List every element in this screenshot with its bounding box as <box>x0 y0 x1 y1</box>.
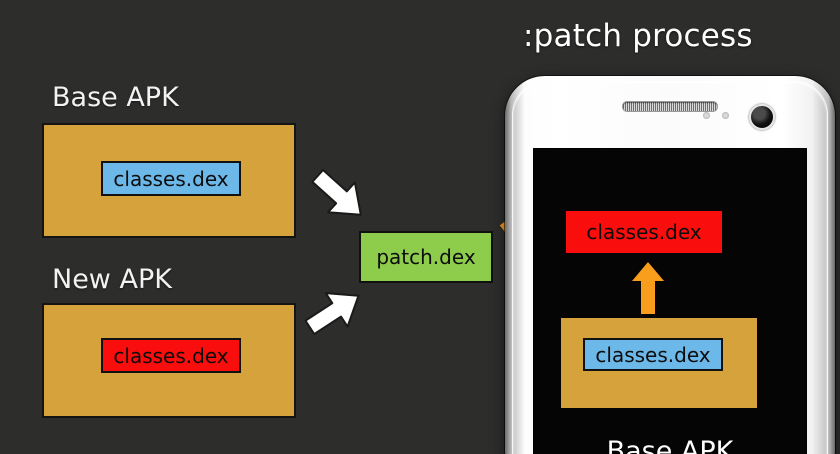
base-apk-to-patch-arrow-icon <box>308 168 372 224</box>
new-apk-to-patch-arrow-icon <box>303 285 367 337</box>
new-apk-box: classes.dex <box>42 303 296 418</box>
front-camera-icon <box>749 104 775 130</box>
device-base-apk-box: classes.dex <box>561 318 757 408</box>
earpiece-speaker-icon <box>622 101 718 112</box>
device-base-apk-label: Base APK <box>533 436 807 454</box>
base-apk-to-patched-dex-arrow-icon <box>631 261 665 315</box>
base-apk-classes-dex-chip: classes.dex <box>101 161 241 196</box>
patch-dex-box: patch.dex <box>359 231 493 283</box>
page-title: :patch process <box>523 18 753 54</box>
device-base-apk-classes-dex-chip: classes.dex <box>583 338 723 371</box>
light-sensor-icon <box>722 112 729 119</box>
phone-screen: classes.dex classes.dex Base APK <box>533 148 807 454</box>
new-apk-classes-dex-chip: classes.dex <box>101 338 241 373</box>
diagram-canvas: :patch process Base APK classes.dex New … <box>0 0 840 454</box>
phone-mockup: classes.dex classes.dex Base APK <box>505 76 835 454</box>
base-apk-box: classes.dex <box>42 123 296 238</box>
base-apk-label: Base APK <box>52 82 179 113</box>
new-apk-label: New APK <box>52 264 172 295</box>
device-patched-classes-dex-chip: classes.dex <box>566 211 722 253</box>
proximity-sensor-icon <box>703 112 710 119</box>
